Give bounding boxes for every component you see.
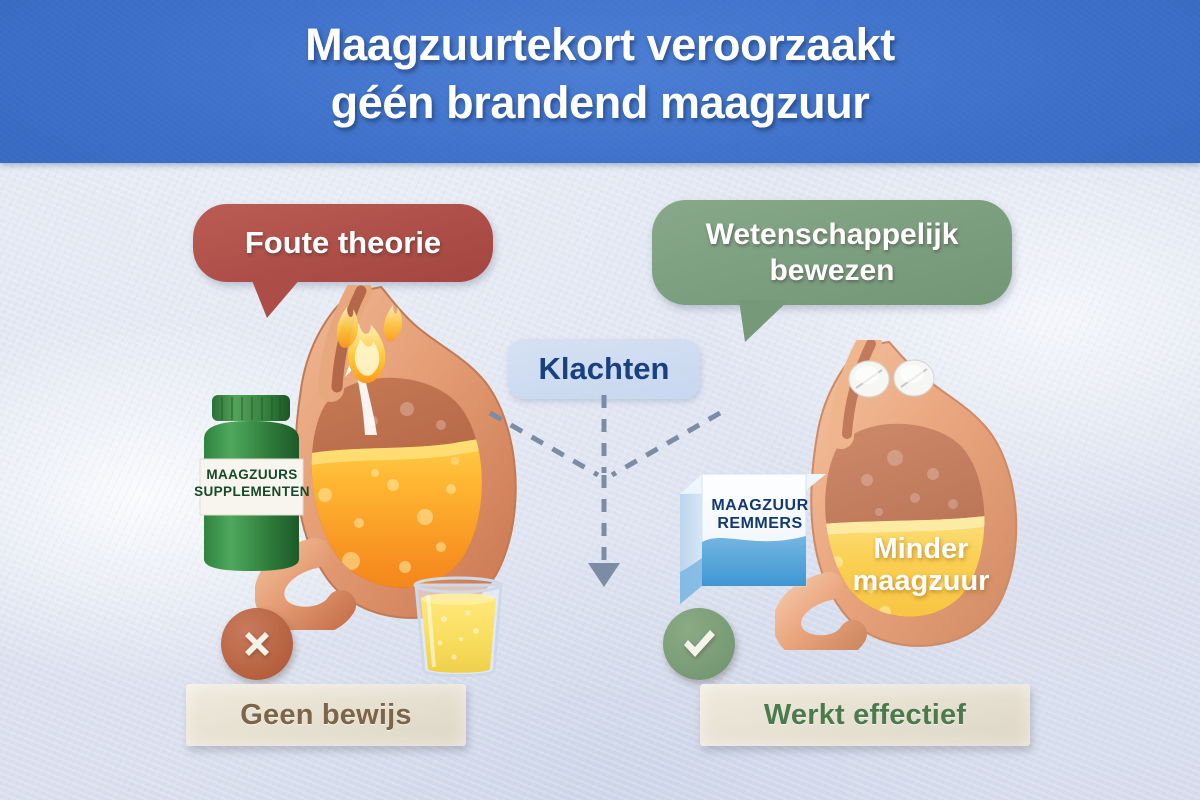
cross-icon xyxy=(237,624,277,664)
verdict-plaque-left-label: Geen bewijs xyxy=(240,699,411,732)
klachten-label: Klachten xyxy=(539,351,670,387)
speech-bubble-proven-line-2: bewezen xyxy=(706,253,959,288)
speech-bubble-tail xyxy=(739,300,789,342)
stomach-label-line-2: maagzuur xyxy=(835,566,1007,598)
cross-badge xyxy=(221,608,293,680)
medicine-box xyxy=(676,464,831,609)
medicine-box-label-line-1: MAAGZUUR xyxy=(700,497,820,515)
arrow-head-icon xyxy=(588,563,620,587)
medicine-box-label: MAAGZUUR REMMERS xyxy=(700,497,820,534)
arrow-branch-left xyxy=(490,413,598,475)
verdict-plaque-right-label: Werkt effectief xyxy=(764,699,966,732)
klachten-callout: Klachten xyxy=(508,339,700,399)
bottle-label: MAAGZUURS SUPPLEMENTEN xyxy=(192,466,312,501)
stomach-label-line-1: Minder xyxy=(835,534,1007,566)
medicine-box-label-line-2: REMMERS xyxy=(700,515,820,533)
check-icon xyxy=(678,623,720,665)
page-title: Maagzuurtekort veroorzaakt géén brandend… xyxy=(0,16,1200,131)
stomach-label-reduced-acid: Minder maagzuur xyxy=(835,534,1007,598)
header-banner: Maagzuurtekort veroorzaakt géén brandend… xyxy=(0,0,1200,163)
verdict-plaque-left: Geen bewijs xyxy=(186,684,466,746)
title-line-1: Maagzuurtekort veroorzaakt xyxy=(0,16,1200,74)
bottle-label-line-2: SUPPLEMENTEN xyxy=(192,483,312,500)
verdict-plaque-right: Werkt effectief xyxy=(700,684,1030,746)
speech-bubble-proven-line-1: Wetenschappelijk xyxy=(706,217,959,252)
infographic-poster: Maagzuurtekort veroorzaakt géén brandend… xyxy=(0,0,1200,800)
pills-illustration xyxy=(848,358,936,400)
speech-bubble-wrong-theory-label: Foute theorie xyxy=(245,225,441,261)
pill-icon xyxy=(849,361,889,397)
check-badge xyxy=(663,608,735,680)
bottle-label-line-1: MAAGZUURS xyxy=(192,466,312,483)
pill-icon xyxy=(894,360,934,396)
title-line-2: géén brandend maagzuur xyxy=(0,74,1200,132)
speech-bubble-wrong-theory: Foute theorie xyxy=(193,204,493,282)
speech-bubble-proven: Wetenschappelijk bewezen xyxy=(652,200,1012,305)
